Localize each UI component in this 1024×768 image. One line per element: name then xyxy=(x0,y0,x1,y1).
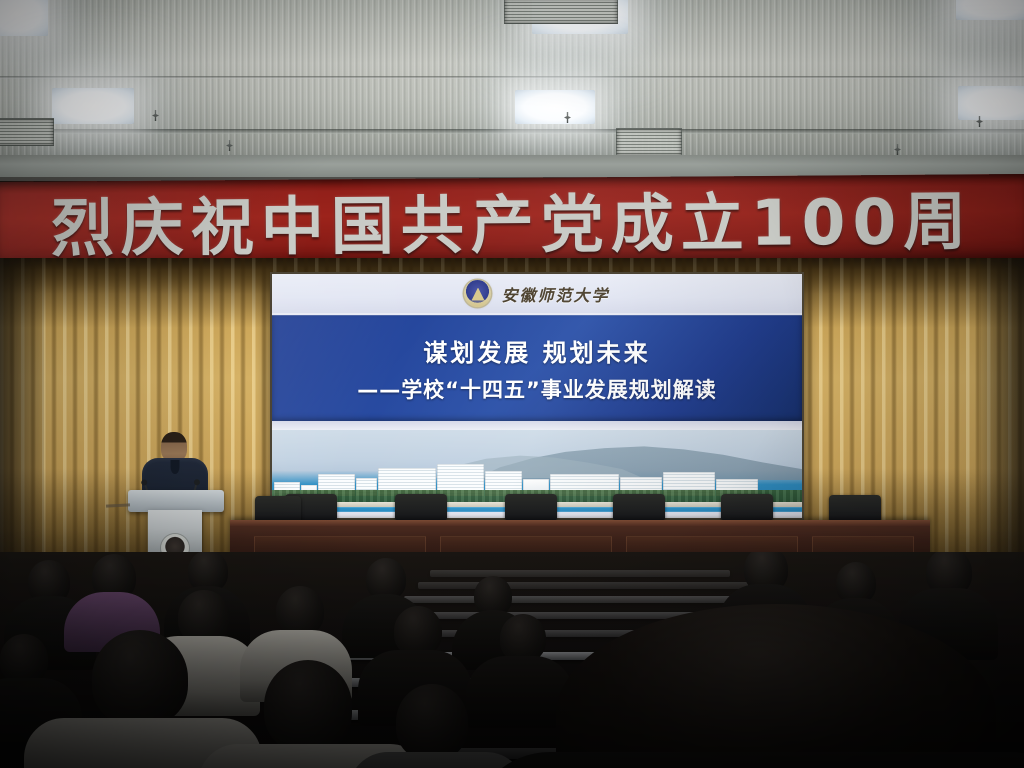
presentation-slide: 安徽师范大学 谋划发展 规划未来 ——学校“十四五”事业发展规划解读 xyxy=(272,274,802,518)
anhui-normal-university-emblem-icon xyxy=(464,280,491,307)
seat-row xyxy=(404,596,772,603)
auditorium-scene: 烈庆祝中国共产党成立100周 安徽师范大学 谋划发展 规划未来 ——学校“十四五… xyxy=(0,0,1024,768)
presenter-at-podium xyxy=(128,432,224,558)
foreground-audience-body xyxy=(470,752,1024,768)
ceiling-light-6 xyxy=(956,0,1024,20)
seat-row xyxy=(430,570,730,577)
stage-chair xyxy=(255,496,301,522)
audience-body xyxy=(348,752,526,768)
audience-head xyxy=(500,614,546,662)
stage-chair xyxy=(395,494,447,520)
banner-text: 烈庆祝中国共产党成立100周 xyxy=(50,174,973,269)
ceiling-light-5 xyxy=(515,90,595,124)
university-name: 安徽师范大学 xyxy=(501,282,609,306)
slide-divider xyxy=(272,421,802,430)
audience-head xyxy=(264,660,352,752)
slide-title-block: 谋划发展 规划未来 ——学校“十四五”事业发展规划解读 xyxy=(272,315,802,421)
ceiling-seam-upper xyxy=(0,76,1024,79)
audience-head xyxy=(394,606,442,656)
audience-head xyxy=(92,630,188,726)
ceiling-light-3 xyxy=(958,86,1024,120)
slide-header: 安徽师范大学 xyxy=(272,274,802,313)
slide-title: 谋划发展 规划未来 xyxy=(423,333,650,368)
celebration-banner: 烈庆祝中国共产党成立100周 xyxy=(0,174,1024,270)
audience-head xyxy=(396,684,468,760)
stage-chair xyxy=(721,494,773,520)
ceiling-seam-lower xyxy=(0,129,1024,134)
stage-right-wall xyxy=(980,258,1024,558)
stage-chair xyxy=(613,494,665,520)
hvac-vent-left xyxy=(0,118,54,146)
stage-left-wall xyxy=(0,258,44,558)
ceiling-light-1 xyxy=(0,0,48,36)
projection-screen: 安徽师范大学 谋划发展 规划未来 ——学校“十四五”事业发展规划解读 xyxy=(270,272,804,520)
audience-floor xyxy=(0,552,1024,768)
audience-head xyxy=(0,634,48,684)
ceiling xyxy=(0,0,1024,158)
audience-head xyxy=(276,586,324,636)
stage-chair xyxy=(829,495,881,521)
stage-chair xyxy=(505,494,557,520)
head-table-edge xyxy=(230,520,930,526)
slide-subtitle: ——学校“十四五”事业发展规划解读 xyxy=(357,374,717,404)
seat-row xyxy=(418,582,748,589)
podium-top xyxy=(128,490,224,512)
hvac-vent-center xyxy=(504,0,618,24)
hvac-vent-right xyxy=(616,128,682,156)
ceiling-light-4 xyxy=(52,88,134,124)
podium-body xyxy=(148,510,202,558)
